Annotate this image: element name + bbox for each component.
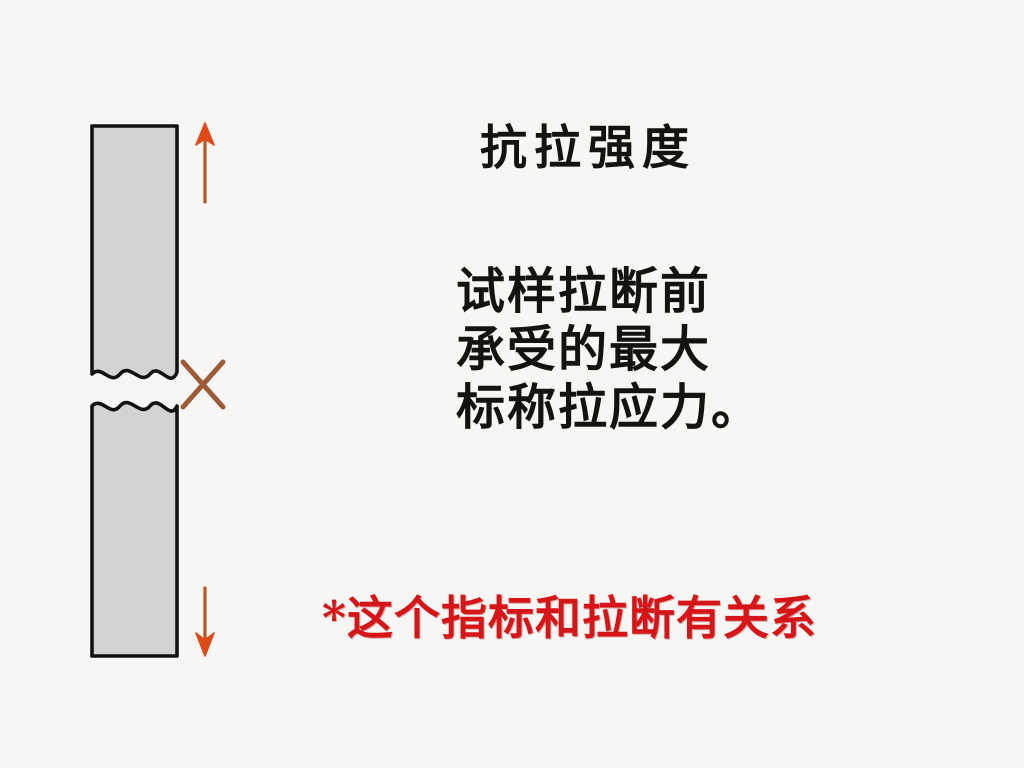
- fracture-cross-icon: [183, 362, 223, 407]
- tensile-force-up-arrow-icon: [196, 123, 214, 202]
- emphasis-note: *这个指标和拉断有关系: [322, 592, 942, 645]
- definition-line-1: 试样拉断前: [456, 262, 796, 320]
- definition-line-3: 标称拉应力。: [456, 378, 796, 436]
- lower-specimen-half: [92, 403, 177, 656]
- definition-text-block: 试样拉断前 承受的最大 标称拉应力。: [456, 262, 796, 436]
- tensile-force-down-arrow-icon: [196, 588, 214, 656]
- definition-line-2: 承受的最大: [456, 320, 796, 378]
- upper-specimen-half: [92, 126, 177, 378]
- slide-canvas: 抗拉强度 试样拉断前 承受的最大 标称拉应力。 *这个指标和拉断有关系: [0, 0, 1024, 768]
- tensile-specimen-fracture-diagram: [60, 100, 280, 680]
- page-title: 抗拉强度: [480, 122, 900, 176]
